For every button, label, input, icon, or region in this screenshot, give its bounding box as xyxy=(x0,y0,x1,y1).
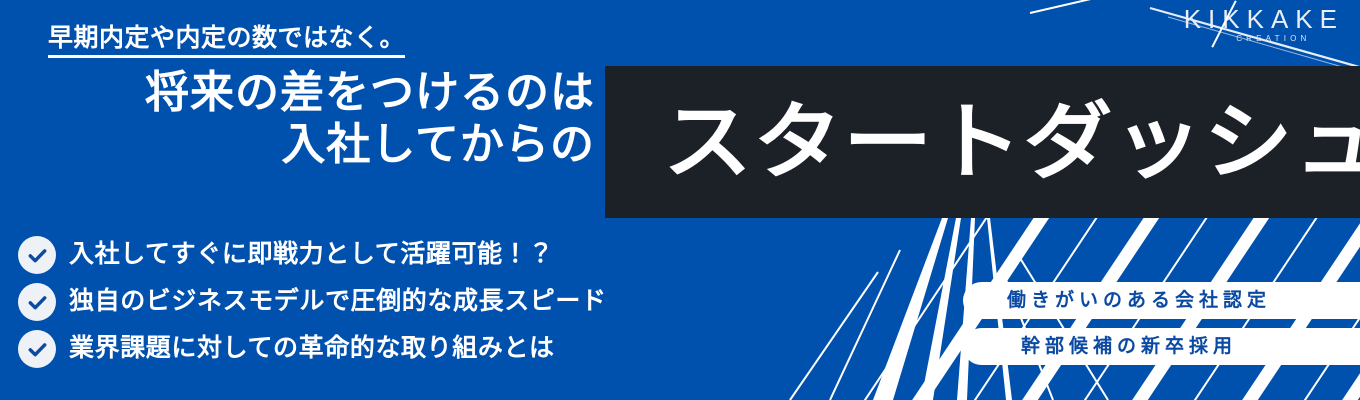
logo-wordmark: KIKKAKE xyxy=(1177,6,1344,32)
bullet-label: 入社してすぐに即戦力として活躍可能！？ xyxy=(69,241,554,269)
headline-panel: スタートダッシュ xyxy=(605,66,1360,218)
headline-text: スタートダッシュ xyxy=(663,100,1360,184)
lead-line-2: 入社してからの xyxy=(0,119,600,171)
badge-group: 働きがいのある会社認定 幹部候補の新卒採用 xyxy=(963,282,1360,365)
list-item: 業界課題に対しての革命的な取り組みとは xyxy=(18,330,607,368)
list-item: 独自のビジネスモデルで圧倒的な成長スピード xyxy=(18,283,607,321)
list-item: 入社してすぐに即戦力として活躍可能！？ xyxy=(18,236,607,274)
check-circle-icon xyxy=(18,330,56,368)
lead-line-1: 将来の差をつけるのは xyxy=(0,67,600,119)
check-circle-icon xyxy=(18,236,56,274)
status-badge-certified: 働きがいのある会社認定 xyxy=(963,282,1360,319)
feature-bullet-list: 入社してすぐに即戦力として活躍可能！？ 独自のビジネスモデルで圧倒的な成長スピー… xyxy=(18,236,607,368)
recruit-banner: KIKKAKE CREATION 早期内定や内定の数ではなく。 将来の差をつける… xyxy=(0,0,1360,400)
badge-label: 幹部候補の新卒採用 xyxy=(963,337,1237,356)
lead-kicker: 早期内定や内定の数ではなく。 xyxy=(48,24,405,58)
status-badge-recruit: 幹部候補の新卒採用 xyxy=(963,328,1360,365)
brand-logo[interactable]: KIKKAKE CREATION xyxy=(1177,6,1344,43)
bullet-label: 独自のビジネスモデルで圧倒的な成長スピード xyxy=(69,288,607,316)
bullet-label: 業界課題に対しての革命的な取り組みとは xyxy=(69,335,555,363)
badge-label: 働きがいのある会社認定 xyxy=(963,291,1271,310)
logo-tagline: CREATION xyxy=(1210,35,1310,43)
logo-mark: KIKKAKE xyxy=(1177,6,1344,32)
check-circle-icon xyxy=(18,283,56,321)
lead-copy-block: 早期内定や内定の数ではなく。 将来の差をつけるのは 入社してからの xyxy=(0,24,600,171)
